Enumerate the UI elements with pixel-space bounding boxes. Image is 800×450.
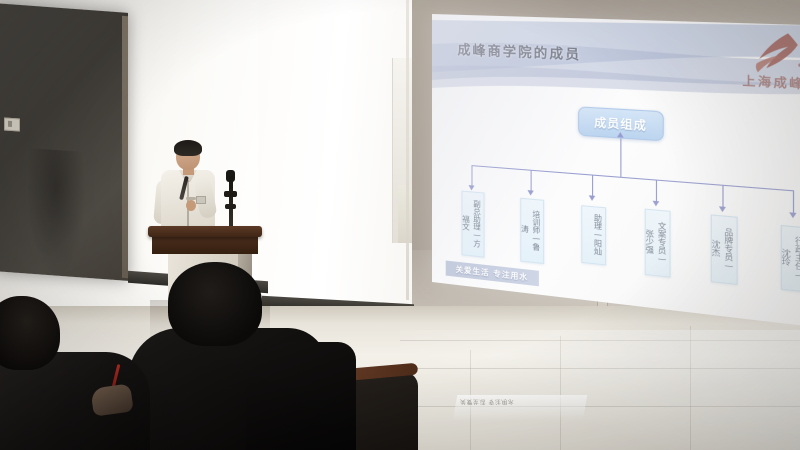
wall-switch-icon[interactable]: [4, 117, 20, 131]
slide-canvas: 成峰商学院的成员 上海成峰 成员组成: [432, 14, 800, 329]
wall-corner-edge: [406, 0, 409, 300]
audience-member-right-head: [168, 262, 262, 346]
mic-stand-clamp-lower: [225, 204, 236, 209]
drop-2: [531, 170, 532, 193]
floor-gloss-highlight: [400, 330, 800, 450]
slide-footer-tagline: 关爱生活 专注用水: [446, 261, 539, 287]
arrow-icon-3: [589, 195, 595, 201]
org-node-6: 行政主任—沈玲: [781, 225, 800, 293]
root-arrow-icon: [617, 132, 624, 138]
arrow-icon-6: [789, 212, 796, 218]
arrow-icon-1: [468, 185, 474, 191]
arrow-icon-2: [527, 190, 533, 196]
org-node-2: 培训师—鲁涛: [520, 198, 544, 264]
org-node-5: 品牌专员—沈杰: [711, 214, 738, 285]
panel-shadow: [26, 148, 86, 280]
flame-swoosh-icon: [740, 30, 800, 77]
projection-screen: 成峰商学院的成员 上海成峰 成员组成: [432, 14, 800, 329]
podium-top-ledge: [148, 226, 262, 237]
drop-6: [793, 190, 794, 215]
org-node-4: 文案专员—张少强: [645, 209, 671, 278]
drop-5: [722, 185, 723, 209]
org-node-3: 助理—阳灿: [581, 205, 606, 265]
arrow-icon-4: [653, 201, 660, 207]
audience-member-right-shoulder: [246, 342, 356, 450]
drop-1: [471, 165, 472, 187]
drop-4: [656, 180, 657, 204]
mic-stand-pole: [229, 176, 233, 230]
drop-3: [592, 175, 593, 198]
doorway-shadow: [398, 185, 412, 243]
root-stem: [620, 138, 621, 176]
company-logo: 上海成峰: [729, 29, 800, 102]
presenter-hand: [186, 200, 196, 211]
presenter-hair: [174, 140, 202, 156]
photo-scene: 关爱生活 专注用水 成峰商学院的成员: [0, 0, 800, 450]
slide-reflection-text: 关爱生活 专注用水: [459, 398, 515, 407]
org-node-1: 副总助理—方福文: [462, 191, 485, 258]
logo-wordmark: 上海成峰: [729, 71, 800, 93]
arrow-icon-5: [719, 206, 726, 212]
presenter-chest-pocket: [196, 196, 206, 204]
horizontal-bus: [471, 165, 794, 191]
panel-frame-edge: [122, 16, 128, 278]
podium-front-band: [152, 236, 258, 254]
mic-stand-clamp: [224, 191, 237, 197]
